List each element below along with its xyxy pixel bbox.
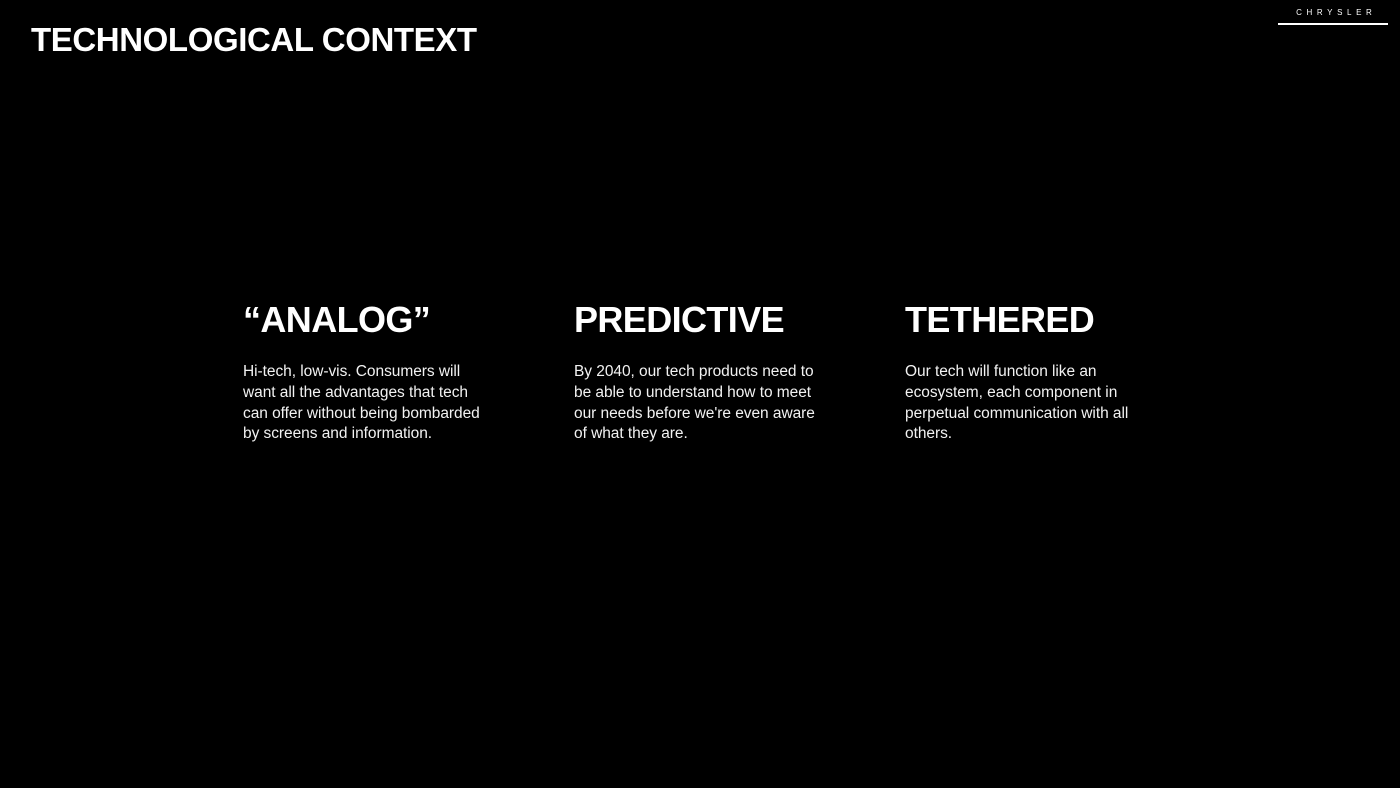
content-column-predictive: PREDICTIVE By 2040, our tech products ne… bbox=[574, 300, 905, 445]
brand-wordmark: CHRYSLER bbox=[1278, 9, 1390, 17]
column-body-text: Our tech will function like an ecosystem… bbox=[905, 362, 1157, 444]
brand-underline-rule bbox=[1278, 23, 1388, 25]
page-title: TECHNOLOGICAL CONTEXT bbox=[31, 22, 477, 58]
content-columns: “ANALOG” Hi-tech, low-vis. Consumers wil… bbox=[243, 300, 1243, 445]
column-body-text: By 2040, our tech products need to be ab… bbox=[574, 362, 826, 444]
content-column-tethered: TETHERED Our tech will function like an … bbox=[905, 300, 1236, 445]
content-column-analog: “ANALOG” Hi-tech, low-vis. Consumers wil… bbox=[243, 300, 574, 445]
presentation-slide: TECHNOLOGICAL CONTEXT CHRYSLER “ANALOG” … bbox=[0, 0, 1400, 788]
column-body-text: Hi-tech, low-vis. Consumers will want al… bbox=[243, 362, 495, 444]
column-heading: “ANALOG” bbox=[243, 300, 574, 340]
column-heading: PREDICTIVE bbox=[574, 300, 905, 340]
chrysler-logo: CHRYSLER bbox=[1278, 9, 1390, 25]
column-heading: TETHERED bbox=[905, 300, 1236, 340]
